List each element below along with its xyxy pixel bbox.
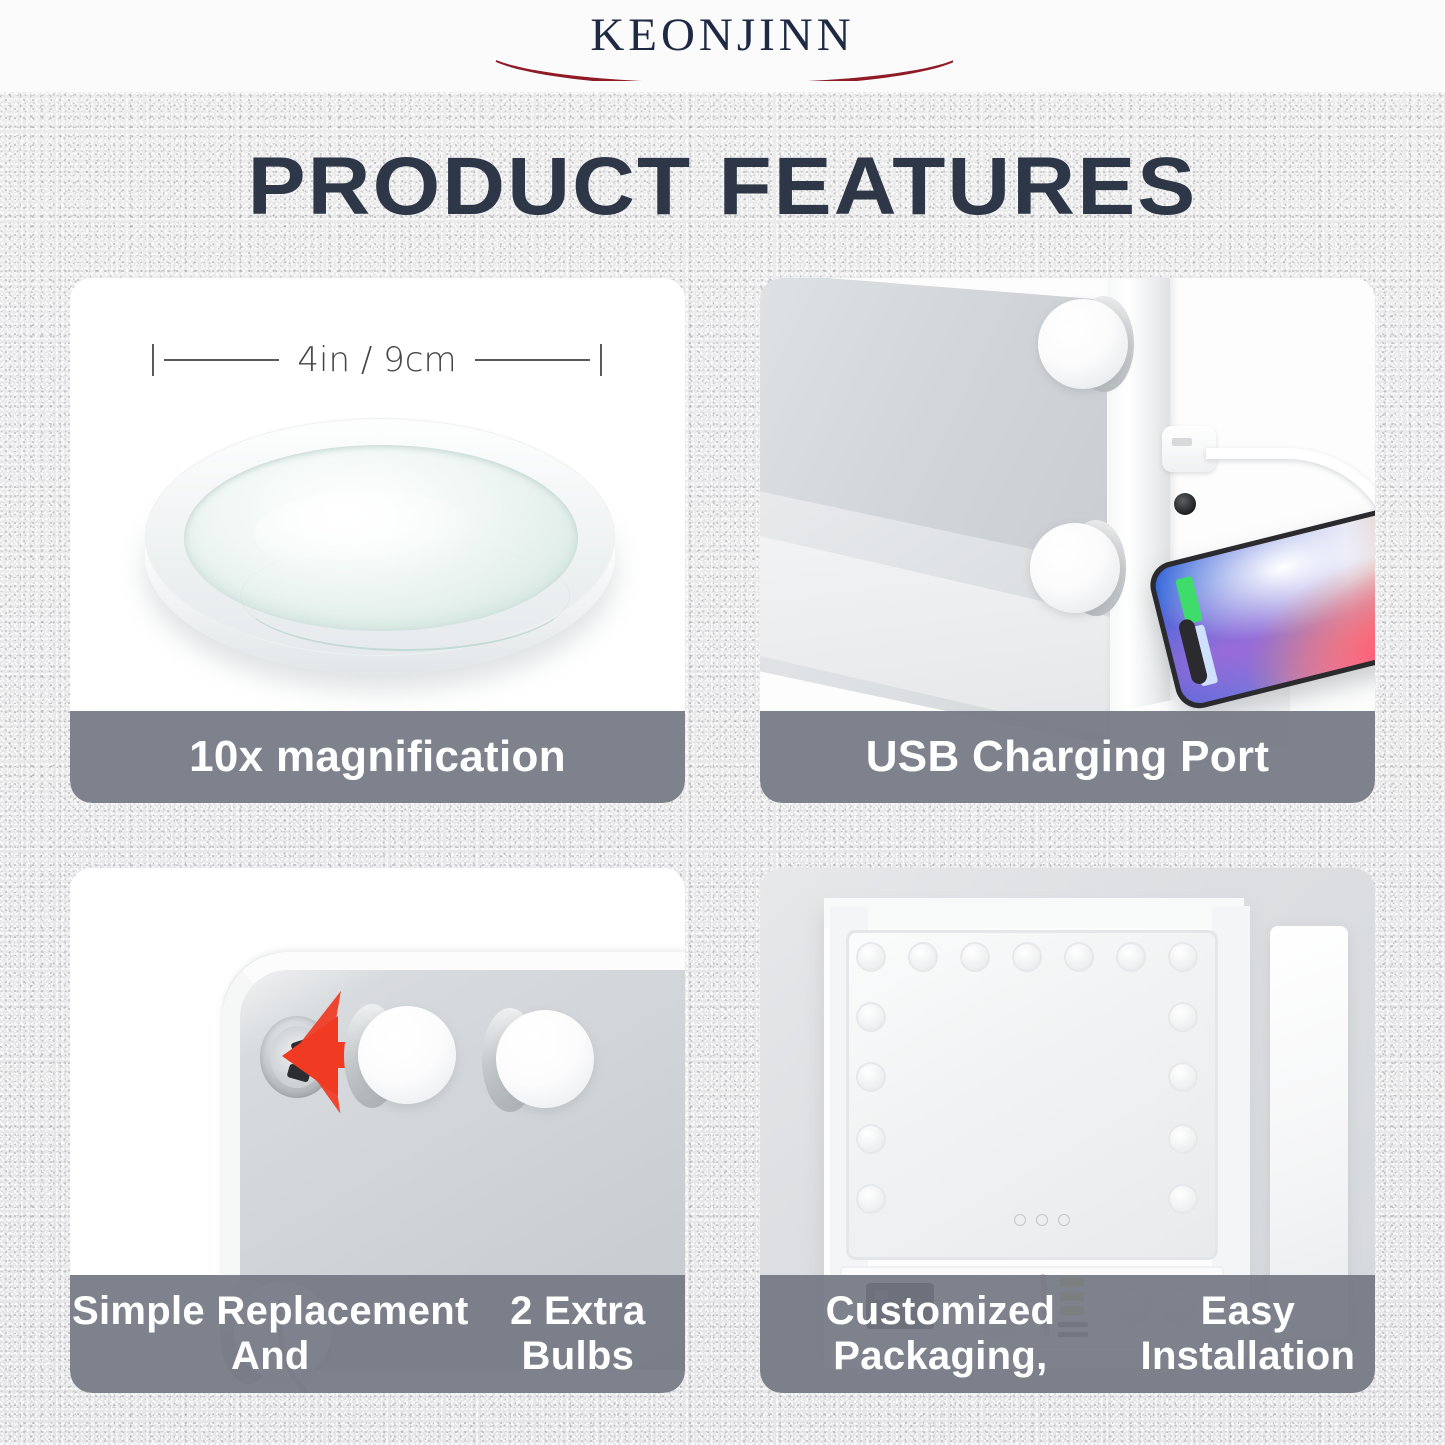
brand-swoosh-underline-icon [493, 57, 953, 81]
mirror-touch-controls [1014, 1213, 1084, 1227]
bulb-dome [496, 1010, 594, 1108]
feature-card-usb-charging: USB Charging Port [760, 278, 1375, 803]
feature-card-magnification: 4in / 9cm 10x magnification [70, 278, 685, 803]
magnifier-rim [145, 418, 615, 656]
caption-magnification: 10x magnification [70, 711, 685, 803]
packaged-bulb [1116, 942, 1146, 972]
led-bulb-bottom [1030, 520, 1126, 616]
led-bulb-2 [482, 1008, 586, 1112]
brand-logo: KEONJINN [488, 5, 958, 87]
caption-usb-charging: USB Charging Port [760, 711, 1375, 803]
caption-bulb-replacement: Simple Replacement And 2 Extra Bulbs [70, 1275, 685, 1393]
packaged-bulb [1168, 1184, 1198, 1214]
packaged-bulb [856, 942, 886, 972]
packaged-bulb [1168, 1002, 1198, 1032]
packaged-bulb [1168, 1124, 1198, 1154]
dimension-callout: 4in / 9cm [152, 340, 602, 380]
bulb-glass [1030, 523, 1120, 613]
packaging-strap-top [824, 898, 1244, 928]
caption-packaging: Customized Packaging, Easy Installation [760, 1275, 1375, 1393]
packaged-bulb [960, 942, 990, 972]
packaged-bulb [1064, 942, 1094, 972]
led-bulb-top [1038, 296, 1134, 392]
feature-grid: 4in / 9cm 10x magnification [70, 278, 1375, 1418]
dimension-tick-right [600, 344, 602, 376]
arrow-head [282, 1016, 338, 1096]
caption-line-2: Easy Installation [1121, 1289, 1375, 1379]
feature-card-bulb-replacement: Simple Replacement And 2 Extra Bulbs [70, 868, 685, 1393]
battery-indicator [1176, 576, 1204, 625]
led-bulb-1 [344, 1004, 448, 1108]
touch-control-icon [1058, 1214, 1070, 1226]
magnifier-lens [184, 445, 578, 631]
packaged-bulb [1012, 942, 1042, 972]
dimension-tick-left [152, 344, 154, 376]
page-title: PRODUCT FEATURES [0, 140, 1445, 234]
touch-control-icon [1036, 1214, 1048, 1226]
packaged-bulb [1168, 942, 1198, 972]
touch-control-icon [1014, 1214, 1026, 1226]
bulb-glass [1038, 299, 1128, 389]
caption-line-2: 2 Extra Bulbs [471, 1289, 685, 1379]
magnifier-lens-highlight [254, 491, 484, 577]
dimension-label: 4in / 9cm [289, 340, 464, 380]
packaged-bulb [856, 1184, 886, 1214]
dimension-rule-left [164, 359, 279, 361]
brand-header: KEONJINN [0, 0, 1445, 92]
packaged-bulb [908, 942, 938, 972]
power-jack-icon [1174, 493, 1196, 515]
packaged-bulb [856, 1002, 886, 1032]
packaged-bulb [856, 1062, 886, 1092]
caption-line-1: Simple Replacement And [70, 1289, 471, 1379]
packaged-bulb [1168, 1062, 1198, 1092]
feature-card-packaging: Customized Packaging, Easy Installation [760, 868, 1375, 1393]
packaged-bulb [856, 1124, 886, 1154]
packaged-mirror [846, 930, 1218, 1260]
caption-line-1: Customized Packaging, [760, 1289, 1121, 1379]
brand-name: KEONJINN [488, 7, 958, 63]
bulb-dome [358, 1006, 456, 1104]
magnifier-mirror [145, 418, 615, 698]
dimension-rule-right [475, 359, 590, 361]
